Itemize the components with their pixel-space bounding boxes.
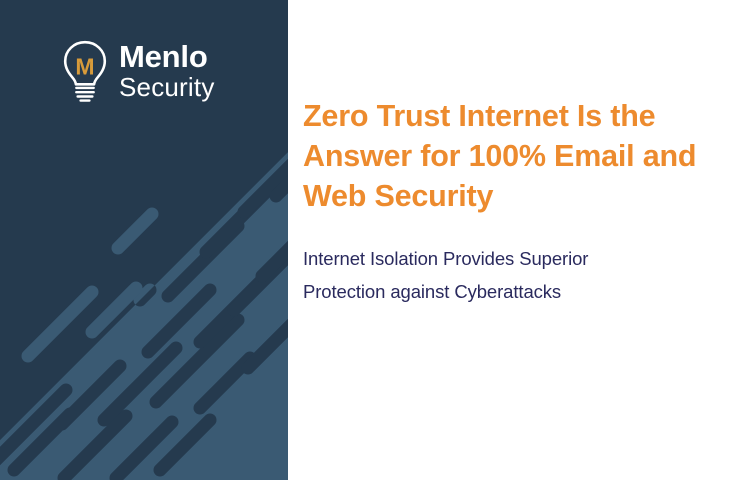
title-slide: M Menlo Security Zero Trust Internet Is … [0,0,734,480]
logo-name-security: Security [119,73,215,101]
menlo-security-logo: M Menlo Security [60,36,260,108]
logo-wordmark: Menlo Security [119,41,215,104]
page-title: Zero Trust Internet Is the Answer for 10… [303,97,728,217]
brand-panel: M Menlo Security [0,0,288,480]
lightbulb-icon: M [60,39,110,105]
logo-name-menlo: Menlo [119,41,215,73]
content-area: Zero Trust Internet Is the Answer for 10… [303,0,723,480]
page-subtitle: Internet Isolation Provides Superior Pro… [303,243,673,309]
logo-monogram: M [75,54,94,80]
